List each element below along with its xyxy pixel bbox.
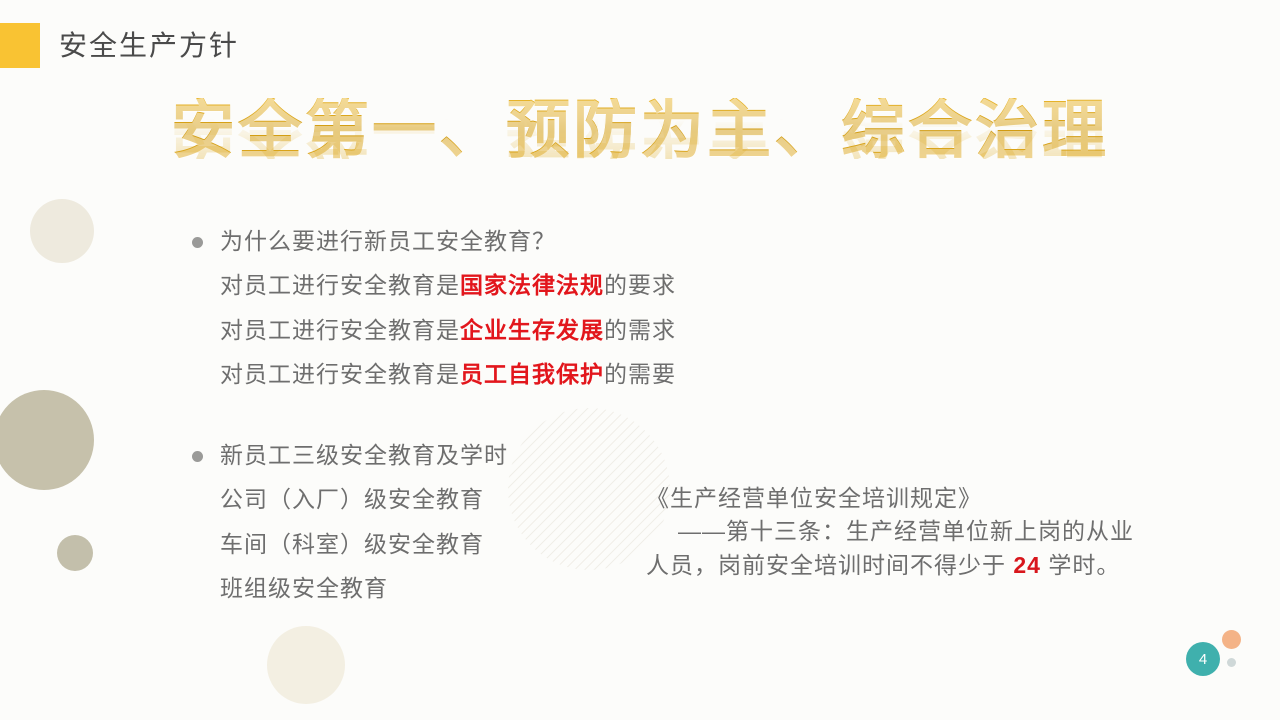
section-heading: 新员工三级安全教育及学时 xyxy=(220,440,508,470)
regulation-title: 《生产经营单位安全培训规定》 xyxy=(646,482,1166,515)
section-heading-row: 新员工三级安全教育及学时 xyxy=(192,440,508,470)
section-line: 对员工进行安全教育是国家法律法规的要求 xyxy=(220,270,676,300)
slide-body: 为什么要进行新员工安全教育？ 对员工进行安全教育是国家法律法规的要求 对员工进行… xyxy=(0,0,1280,720)
regulation-quote: 《生产经营单位安全培训规定》 ——第十三条：生产经营单位新上岗的从业 人员，岗前… xyxy=(646,482,1166,582)
regulation-body: 人员，岗前安全培训时间不得少于 24 学时。 xyxy=(646,549,1166,582)
regulation-hours-value: 24 xyxy=(1013,552,1041,578)
line-prefix: 对员工进行安全教育是 xyxy=(220,317,460,343)
regulation-body-prefix: 人员，岗前安全培训时间不得少于 xyxy=(646,552,1013,578)
section-line: 班组级安全教育 xyxy=(220,573,508,603)
bullet-dot-icon xyxy=(192,237,203,248)
regulation-article: ——第十三条：生产经营单位新上岗的从业 xyxy=(646,515,1166,548)
section-line: 对员工进行安全教育是企业生存发展的需求 xyxy=(220,315,676,345)
section-line: 车间（科室）级安全教育 xyxy=(220,529,508,559)
line-suffix: 的需求 xyxy=(604,317,676,343)
line-suffix: 的要求 xyxy=(604,272,676,298)
regulation-body-suffix: 学时。 xyxy=(1041,552,1120,578)
slide-canvas: 安全生产方针 安全第一、预防为主、综合治理 安全第一、预防为主、综合治理 为什么… xyxy=(0,0,1280,720)
line-highlight: 国家法律法规 xyxy=(460,272,604,298)
section-line: 公司（入厂）级安全教育 xyxy=(220,484,508,514)
section-line: 对员工进行安全教育是员工自我保护的需要 xyxy=(220,359,676,389)
page-number-badge: 4 xyxy=(1186,642,1220,676)
line-highlight: 员工自我保护 xyxy=(460,361,604,387)
page-number-badge-group: 4 xyxy=(1186,630,1260,692)
line-prefix: 对员工进行安全教育是 xyxy=(220,361,460,387)
section-three-level-training: 新员工三级安全教育及学时 公司（入厂）级安全教育 车间（科室）级安全教育 班组级… xyxy=(192,440,508,603)
page-number: 4 xyxy=(1199,652,1207,667)
line-highlight: 企业生存发展 xyxy=(460,317,604,343)
line-prefix: 对员工进行安全教育是 xyxy=(220,272,460,298)
badge-accent-dot-gray xyxy=(1227,658,1236,667)
bullet-dot-icon xyxy=(192,451,203,462)
line-suffix: 的需要 xyxy=(604,361,676,387)
section-heading-row: 为什么要进行新员工安全教育？ xyxy=(192,226,676,256)
section-heading: 为什么要进行新员工安全教育？ xyxy=(220,226,556,256)
section-why-safety-education: 为什么要进行新员工安全教育？ 对员工进行安全教育是国家法律法规的要求 对员工进行… xyxy=(192,226,676,389)
badge-accent-dot-orange xyxy=(1222,630,1241,649)
